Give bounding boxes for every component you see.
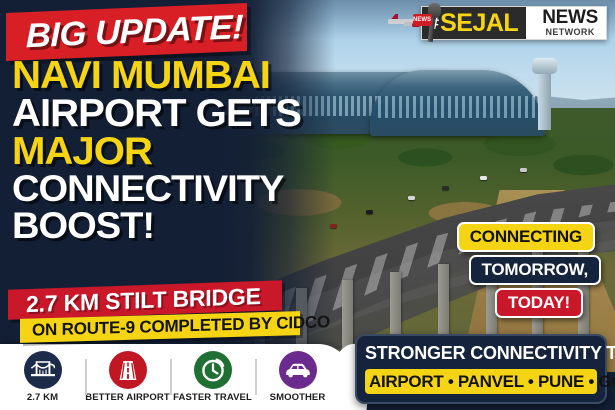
microphone-icon: NEWS [422,3,444,43]
feature-item-highway[interactable]: BETTER AIRPORT [85,351,170,403]
feature-label-clock: FASTER TRAVEL [173,392,252,403]
headline-line-2: AIRPORT GETS [12,96,300,131]
headline-line-4: CONNECTIVITY [12,172,300,205]
headline: NAVI MUMBAI AIRPORT GETS MAJOR CONNECTIV… [12,58,292,242]
feature-item-bridge[interactable]: 2.7 KM [0,351,85,403]
logo-news-text: NEWS [542,9,598,27]
kicker-label: BIG UPDATE! [26,7,243,56]
headline-line-3: MAJOR [12,134,300,169]
connectivity-sign: STRONGER CONNECTIVITY TO AIRPORT • PANVE… [355,334,607,404]
connectivity-sign-destinations: AIRPORT • PANVEL • PUNE • GOA [365,369,597,394]
feature-label-car: SMOOTHER [270,392,326,403]
bridge-icon [24,351,62,389]
feature-item-car[interactable]: SMOOTHER [255,351,340,403]
logo-news-network-block: NEWS NETWORK NEWS [526,7,606,39]
headline-line-5: BOOST! [12,209,300,242]
kicker-banner: BIG UPDATE! [6,3,247,61]
tagline-badges: CONNECTING TOMORROW, TODAY! [457,222,603,318]
logo-brand-name: SEJAL [440,11,518,36]
channel-logo[interactable]: # SEJAL NEWS NETWORK NEWS [421,6,607,40]
tagline-badge-today: TODAY! [495,288,583,318]
connectivity-sign-title: STRONGER CONNECTIVITY TO [365,343,597,364]
feature-label-highway: BETTER AIRPORT [85,392,169,403]
microphone-flag-label: NEWS [413,17,431,23]
feature-item-clock[interactable]: FASTER TRAVEL [170,351,255,403]
feature-label-bridge: 2.7 KM [27,392,58,403]
tagline-badge-connecting: CONNECTING [457,222,595,252]
control-tower [538,68,551,130]
feature-list: 2.7 KM BETTER AIRPORT [0,344,340,410]
tagline-badge-tomorrow: TOMORROW, [469,255,602,285]
highway-icon [109,351,147,389]
clock-icon [194,351,232,389]
headline-line-1: NAVI MUMBAI [12,58,300,93]
microphone-flag-icon: NEWS [413,14,432,26]
news-graphic-poster: # SEJAL NEWS NETWORK NEWS BIG UPDATE! NA… [0,0,615,410]
logo-network-text: NETWORK [545,27,594,37]
car-icon [279,351,317,389]
